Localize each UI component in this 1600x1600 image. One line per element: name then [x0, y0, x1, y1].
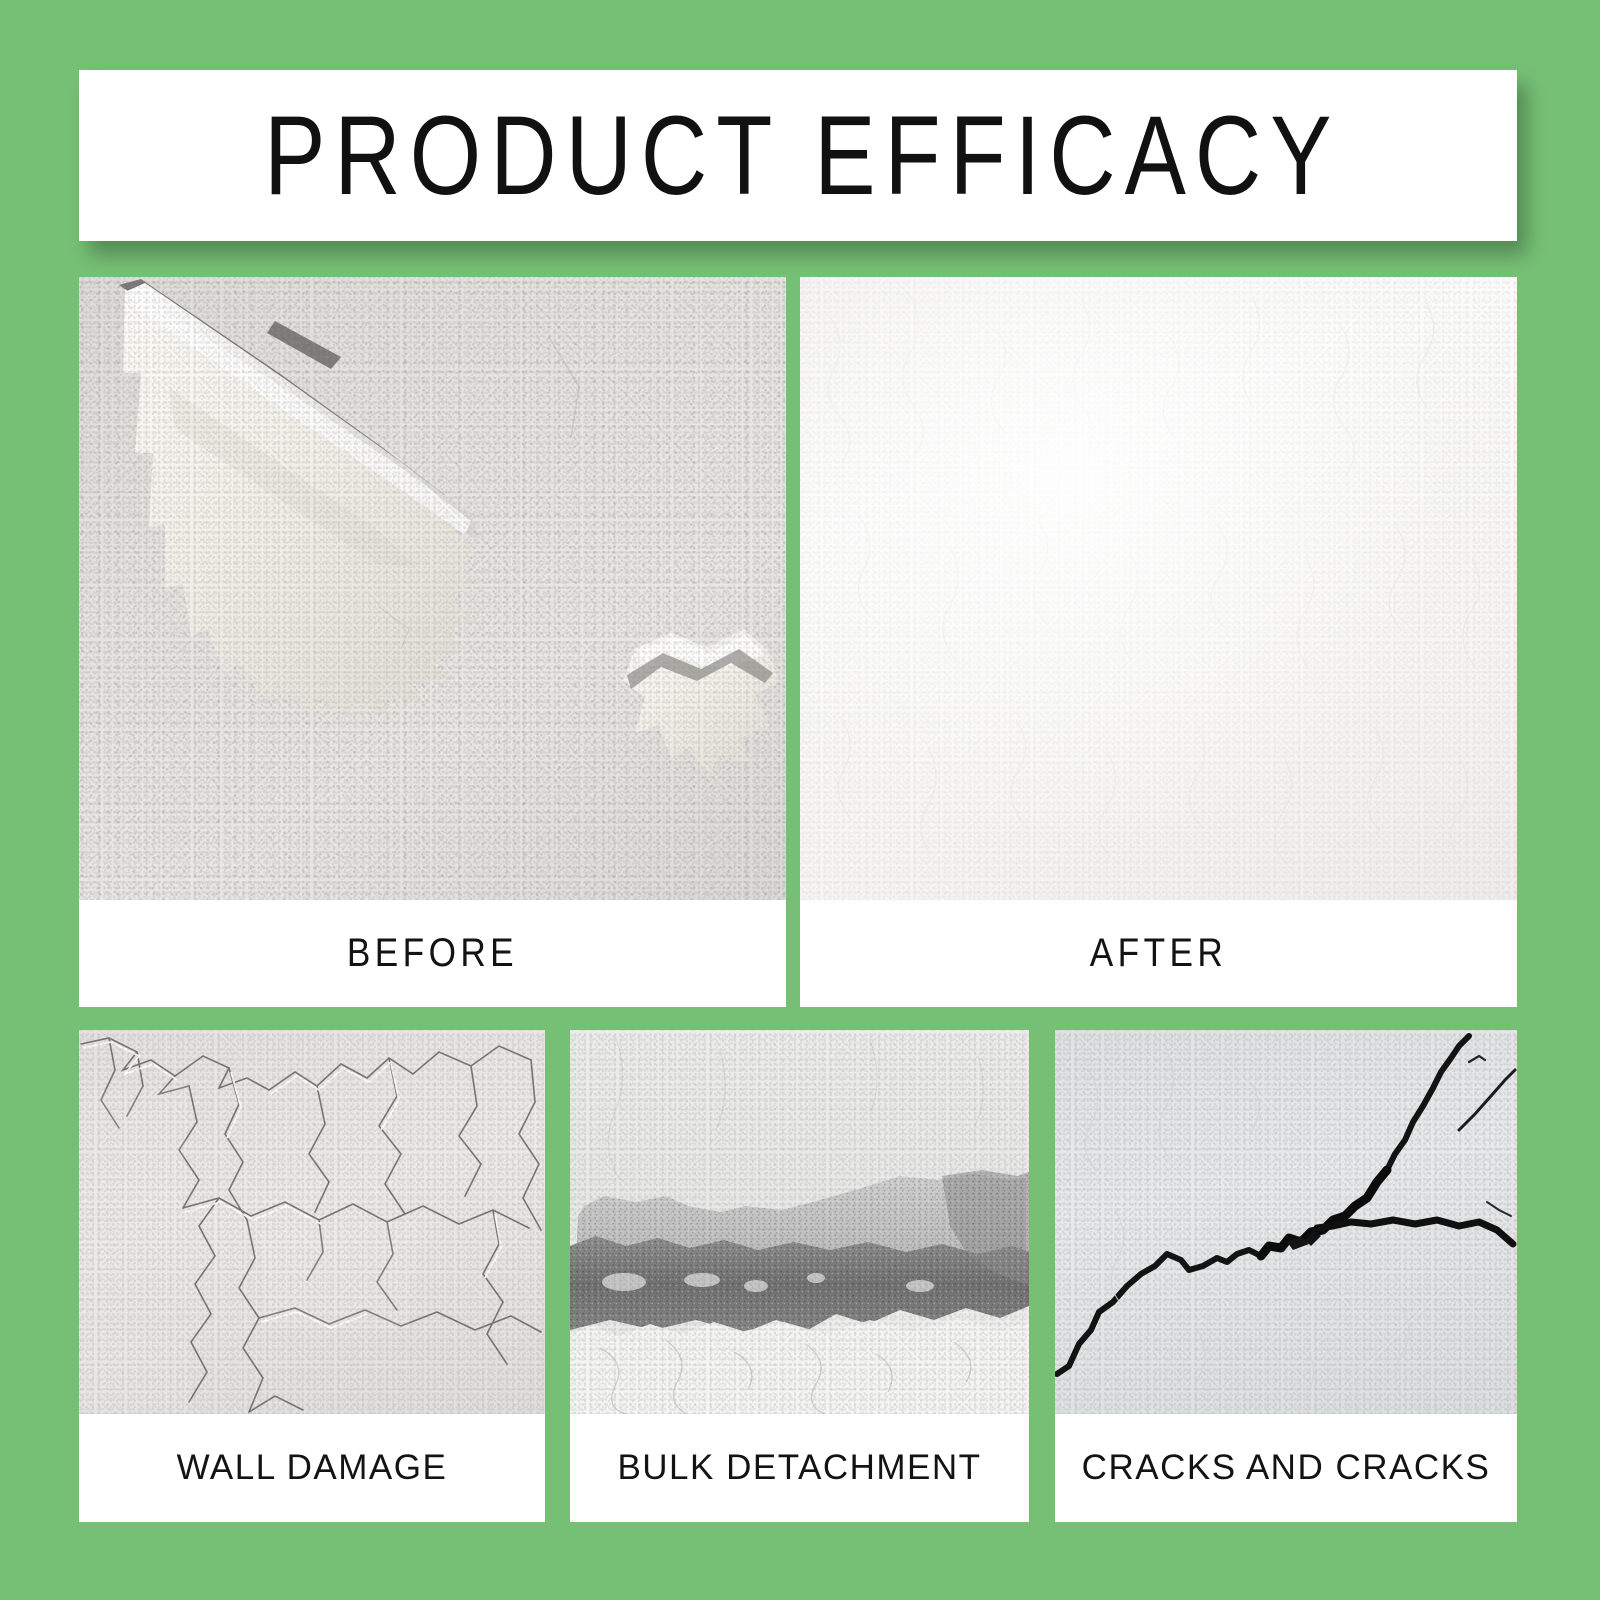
light-sheen-overlay — [800, 277, 1517, 900]
smooth-repaired-wall-photo — [800, 277, 1517, 900]
fine-grain-overlay — [570, 1030, 1029, 1414]
bulk-detachment-caption: BULK DETACHMENT — [570, 1414, 1029, 1522]
wall-damage-caption: WALL DAMAGE — [79, 1414, 545, 1522]
cracked-wall-photo — [1055, 1030, 1517, 1414]
title-card: PRODUCT EFFICACY — [79, 70, 1517, 241]
crack-lines-illustration — [1055, 1030, 1517, 1414]
detached-plaster-wall-photo — [570, 1030, 1029, 1414]
fine-grain-overlay — [79, 277, 786, 900]
after-card: AFTER — [800, 277, 1517, 1007]
bulk-detachment-card: BULK DETACHMENT — [570, 1030, 1029, 1522]
page-title: PRODUCT EFFICACY — [255, 100, 1340, 212]
flaking-paint-wall-photo — [79, 1030, 545, 1414]
after-caption: AFTER — [843, 900, 1474, 1007]
before-caption: BEFORE — [121, 900, 743, 1007]
fine-grain-overlay — [79, 1030, 545, 1414]
cracks-card: CRACKS AND CRACKS — [1055, 1030, 1517, 1522]
product-efficacy-poster: PRODUCT EFFICACY — [0, 0, 1600, 1600]
cracks-caption: CRACKS AND CRACKS — [1055, 1414, 1517, 1522]
before-card: BEFORE — [79, 277, 786, 1007]
wall-damage-card: WALL DAMAGE — [79, 1030, 545, 1522]
peeling-paint-wall-photo — [79, 277, 786, 900]
